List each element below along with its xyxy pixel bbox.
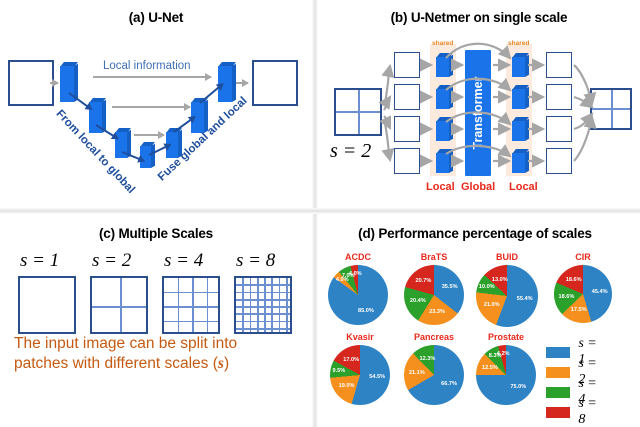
caption-line-2: patches with different scales (s) [14, 354, 229, 374]
arrow-output [236, 82, 248, 84]
skip-arrow-level-2 [112, 106, 190, 108]
pie-slice-label: 54.5% [369, 374, 385, 380]
grid-line-h [236, 306, 290, 308]
legend-label: s = 8 [578, 396, 598, 427]
local-information-label: Local information [103, 60, 191, 72]
grid-line-h [92, 306, 146, 308]
pie-slice-label: 21.1% [409, 370, 425, 376]
grid-line-h [236, 292, 290, 294]
pie-slice-label: 45.4% [592, 289, 608, 295]
pie-chart-cir: CIR45.4%17.5%18.6%18.6% [554, 252, 612, 324]
pie-slice-label: 20.4% [410, 298, 426, 304]
scale-caption-8: s = 8 [236, 250, 275, 272]
pie-slice-label: 35.5% [442, 284, 458, 290]
grid-line-h [236, 284, 290, 286]
pie-slice-label: 4.0% [349, 271, 362, 277]
pie-slice-label: 12.5% [482, 365, 498, 371]
panel-performance: (d) Performance percentage of scales ACD… [318, 214, 640, 427]
grid-line-v [207, 278, 209, 332]
pie-slice-label: 55.4% [517, 296, 533, 302]
pie-slice-label: 21.0% [484, 302, 500, 308]
grid-line-v [264, 278, 266, 332]
skip-arrow-level-1 [93, 76, 211, 78]
pie-slice-label: 18.6% [559, 294, 575, 300]
grid-line-v [271, 278, 273, 332]
output-image-square [252, 60, 298, 106]
pie-slice-label: 12.3% [420, 356, 436, 362]
stage-label-local-right: Local [509, 181, 538, 193]
pie-slice-label: 85.0% [358, 308, 374, 314]
grid-line-h [236, 321, 290, 323]
pie-slice-label: 9.5% [332, 368, 345, 374]
grid-line-v [242, 278, 244, 332]
skip-arrow-level-3 [134, 134, 164, 136]
stage-label-global: Global [461, 181, 495, 193]
pie-slice-label: 23.3% [429, 309, 445, 315]
caption-line-2-pre: patches with different scales ( [14, 355, 218, 372]
pie-title: Kvasir [330, 332, 390, 342]
pie-slice-label: 20.7% [416, 278, 432, 284]
scale-caption-1: s = 1 [20, 250, 59, 272]
pie-disc [404, 265, 464, 325]
panel-d-title: (d) Performance percentage of scales [318, 226, 636, 241]
grid-line-h [236, 313, 290, 315]
pie-chart-pancreas: Pancreas66.7%21.1%12.3% [404, 332, 464, 406]
panel-c-title: (c) Multiple Scales [0, 226, 312, 241]
scale-caption-4: s = 4 [164, 250, 203, 272]
pie-chart-kvasir: Kvasir54.5%19.0%9.5%17.0% [330, 332, 390, 406]
pie-title: CIR [554, 252, 612, 262]
pie-chart-brats: BraTS35.5%23.3%20.4%20.7% [404, 252, 464, 326]
pie-title: BUID [476, 252, 538, 262]
pie-title: Prostate [476, 332, 536, 342]
pie-slice-label: 75.0% [510, 384, 526, 390]
pie-title: ACDC [328, 252, 388, 262]
panel-unetmer: (b) U-Netmer on single scale shared shar… [318, 0, 640, 208]
grid-line-h [164, 321, 218, 323]
grid-line-h [164, 292, 218, 294]
grid-line-v [257, 278, 259, 332]
grid-line-h [164, 306, 218, 308]
grid-line-v [286, 278, 288, 332]
pie-chart-prostate: Prostate75.0%12.5%8.3%4.2% [476, 332, 536, 406]
pie-slice-label: 17.0% [343, 357, 359, 363]
caption-line-1: The input image can be split into [14, 334, 237, 354]
panel-a-title: (a) U-Net [0, 10, 312, 25]
pie-chart-buid: BUID55.4%21.0%10.0%13.0% [476, 252, 538, 328]
pie-title: Pancreas [404, 332, 464, 342]
caption-line-2-post: ) [224, 355, 229, 372]
grid-line-v [120, 278, 122, 332]
legend-item-4: s = 8 [546, 396, 598, 427]
scale-caption-2: s = 2 [92, 250, 131, 272]
pie-title: BraTS [404, 252, 464, 262]
panel-unet: (a) U-Net [0, 0, 312, 208]
grid-line-v [192, 278, 194, 332]
arrow-input [50, 82, 58, 84]
scale-grid-8 [234, 276, 292, 334]
stage-label-local-left: Local [426, 181, 455, 193]
pie-slice-label: 17.5% [571, 307, 587, 313]
pie-slice-label: 13.0% [492, 277, 508, 283]
figure-root: (a) U-Net [0, 0, 640, 427]
grid-line-h [236, 328, 290, 330]
input-image-square [8, 60, 54, 106]
pie-slice-label: 19.0% [339, 383, 355, 389]
grid-line-v [250, 278, 252, 332]
pie-slice-label: 4.2% [497, 351, 510, 357]
grid-line-v [178, 278, 180, 332]
pie-chart-acdc: ACDC85.0%4.0%7.0%4.0% [328, 252, 388, 326]
pie-slice-label: 18.6% [566, 277, 582, 283]
scale-grid-4 [162, 276, 220, 334]
scale-grid-1 [18, 276, 76, 334]
scale-grid-2 [90, 276, 148, 334]
panel-multiple-scales: (c) Multiple Scales s = 1s = 2s = 4s = 8… [0, 214, 312, 427]
grid-line-h [236, 299, 290, 301]
legend-swatch [546, 407, 570, 418]
connection-arrows [318, 0, 640, 208]
grid-line-v [279, 278, 281, 332]
pie-slice-label: 10.0% [479, 284, 495, 290]
pie-slice-label: 66.7% [441, 381, 457, 387]
